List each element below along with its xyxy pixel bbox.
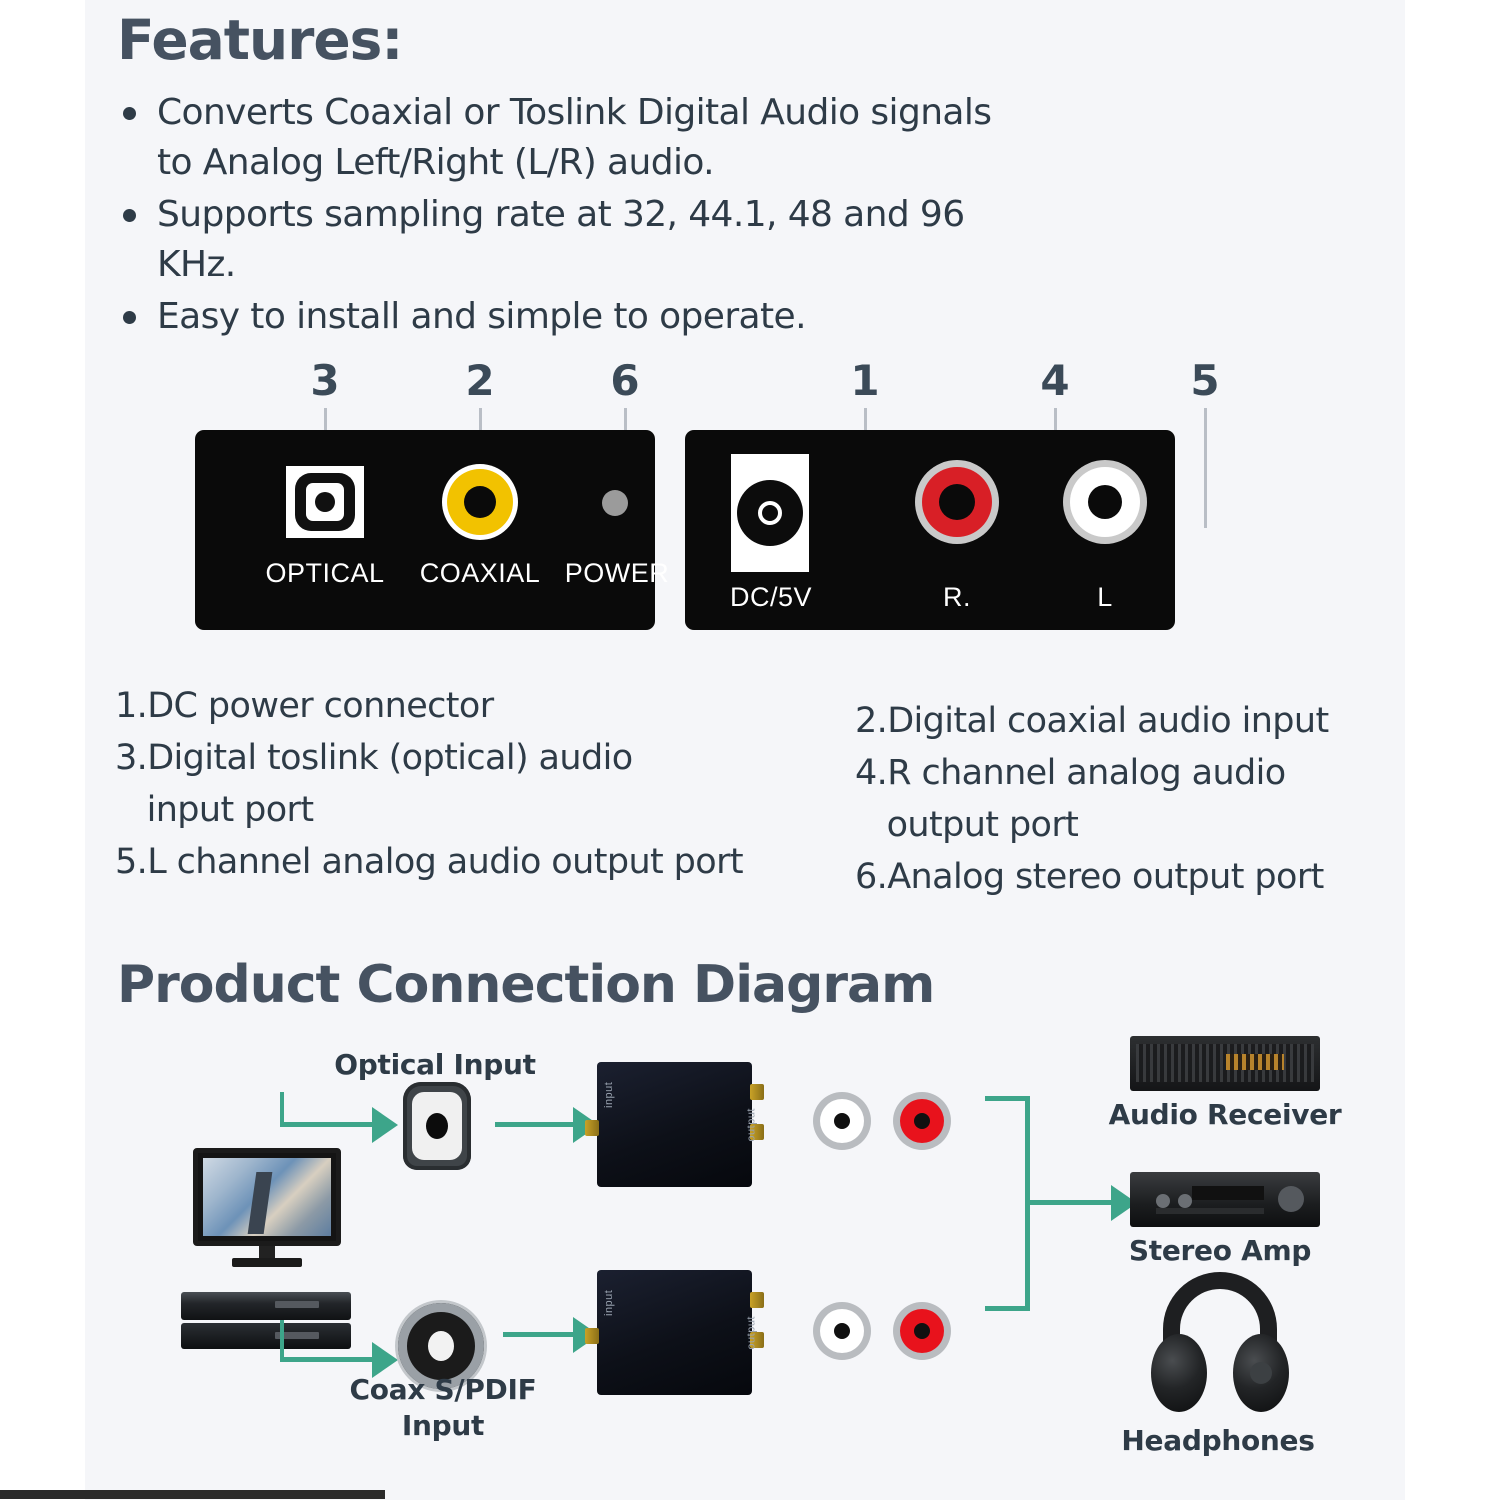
converter-output-nub-1 xyxy=(750,1292,764,1308)
feature-item: Converts Coaxial or Toslink Digital Audi… xyxy=(115,88,1015,188)
arrow-segment xyxy=(1025,1200,1111,1205)
converter-box-icon: input output xyxy=(597,1270,752,1395)
dvd-player-icon xyxy=(181,1292,351,1352)
dc-barrel-jack-icon xyxy=(731,454,809,572)
callout-number-4: 4 xyxy=(1040,356,1069,405)
coax-input-label: Coax S/PDIF Input xyxy=(350,1372,537,1444)
bullet-icon xyxy=(123,209,136,222)
rca-white-icon xyxy=(813,1302,871,1360)
features-heading: Features: xyxy=(117,8,402,72)
legend-item: 3.Digital toslink (optical) audio xyxy=(115,732,835,784)
optical-input-label: Optical Input xyxy=(334,1048,535,1081)
stereo-amp-label: Stereo Amp xyxy=(1129,1234,1311,1267)
port-label-l: L xyxy=(1097,582,1113,613)
arrow-segment xyxy=(503,1332,573,1337)
port-label-r: R. xyxy=(943,582,971,613)
port-label-dc5v: DC/5V xyxy=(730,582,812,613)
toslink-jack-icon xyxy=(286,466,364,538)
arrow-segment xyxy=(495,1122,573,1127)
arrow-segment xyxy=(280,1357,372,1362)
legend-item: 6.Analog stereo output port xyxy=(855,851,1415,903)
feature-item: Supports sampling rate at 32, 44.1, 48 a… xyxy=(115,190,1015,290)
feature-item-text: Converts Coaxial or Toslink Digital Audi… xyxy=(157,92,991,183)
bullet-icon xyxy=(123,311,136,324)
legend-item: 5.L channel analog audio output port xyxy=(115,836,835,888)
diagram-heading: Product Connection Diagram xyxy=(117,955,934,1015)
port-label-coaxial: COAXIAL xyxy=(420,558,541,589)
optical-plug-icon xyxy=(403,1082,471,1170)
legend-item: 4.R channel analog audio xyxy=(855,747,1415,799)
legend-column-right: 2.Digital coaxial audio input 4.R channe… xyxy=(855,695,1415,903)
legend-column-left: 1.DC power connector 3.Digital toslink (… xyxy=(115,680,835,888)
page-sheet: Features: Converts Coaxial or Toslink Di… xyxy=(85,0,1405,1500)
legend-item: input port xyxy=(115,784,835,836)
audio-receiver-image xyxy=(1130,1036,1320,1091)
bracket-segment-bottom xyxy=(985,1306,1029,1311)
rca-red-icon xyxy=(893,1302,951,1360)
callout-number-2: 2 xyxy=(465,356,494,405)
rca-red-icon xyxy=(893,1092,951,1150)
feature-item: Easy to install and simple to operate. xyxy=(115,292,1015,342)
callout-number-6: 6 xyxy=(610,356,639,405)
arrow-segment xyxy=(280,1320,284,1362)
rca-jack-white-icon xyxy=(1063,460,1147,544)
power-led-icon xyxy=(602,490,628,516)
feature-item-text: Supports sampling rate at 32, 44.1, 48 a… xyxy=(157,194,965,285)
arrow-head-icon xyxy=(372,1107,398,1143)
converter-input-label: input xyxy=(603,1290,615,1316)
callout-number-3: 3 xyxy=(310,356,339,405)
headphones-label: Headphones xyxy=(1121,1424,1314,1457)
legend-item: output port xyxy=(855,799,1415,851)
converter-input-nub xyxy=(585,1328,599,1344)
converter-box-icon: input output xyxy=(597,1062,752,1187)
connection-diagram: Optical Input input output xyxy=(85,1030,1405,1500)
port-label-power: POWER xyxy=(565,558,670,589)
tv-icon xyxy=(193,1148,341,1267)
rca-white-icon xyxy=(813,1092,871,1150)
bullet-icon xyxy=(123,107,136,120)
stereo-amp-image xyxy=(1130,1172,1320,1227)
bottom-rule xyxy=(0,1490,385,1499)
converter-input-nub xyxy=(585,1120,599,1136)
rca-jack-red-icon xyxy=(915,460,999,544)
callout-number-1: 1 xyxy=(850,356,879,405)
features-list: Converts Coaxial or Toslink Digital Audi… xyxy=(115,88,1015,344)
port-label-optical: OPTICAL xyxy=(265,558,384,589)
arrow-segment xyxy=(280,1092,284,1126)
feature-item-text: Easy to install and simple to operate. xyxy=(157,296,806,337)
audio-receiver-label: Audio Receiver xyxy=(1109,1098,1342,1131)
converter-output-label: output xyxy=(746,1316,758,1350)
converter-input-label: input xyxy=(603,1082,615,1108)
device-panels: 3 2 6 1 4 5 OPTICAL COAXIAL xyxy=(85,350,1405,650)
arrow-segment xyxy=(280,1122,372,1127)
converter-output-nub-1 xyxy=(750,1084,764,1100)
headphones-image xyxy=(1145,1268,1295,1418)
panel-output-side: DC/5V R. L xyxy=(685,430,1175,630)
converter-output-label: output xyxy=(746,1108,758,1142)
rca-jack-yellow-icon xyxy=(442,464,518,540)
callout-number-5: 5 xyxy=(1190,356,1219,405)
legend-item: 1.DC power connector xyxy=(115,680,835,732)
legend-item: 2.Digital coaxial audio input xyxy=(855,695,1415,747)
panel-input-side: OPTICAL COAXIAL POWER xyxy=(195,430,655,630)
bracket-segment-top xyxy=(985,1096,1029,1101)
callout-line-5 xyxy=(1204,408,1207,528)
